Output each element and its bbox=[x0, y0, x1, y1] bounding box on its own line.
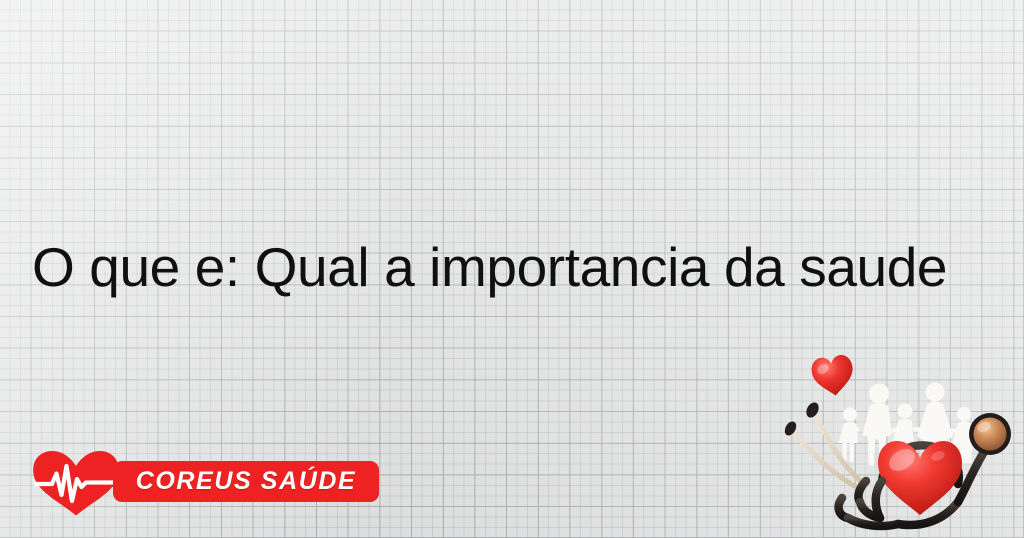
brand-badge-label: COREUS SAÚDE bbox=[113, 461, 379, 502]
small-heart-icon bbox=[810, 354, 856, 399]
heart-ecg-icon bbox=[30, 449, 122, 517]
large-heart-icon bbox=[878, 441, 962, 515]
page-title: O que e: Qual a importancia da saude bbox=[32, 237, 1007, 297]
stethoscope-chestpiece-icon bbox=[969, 413, 1011, 455]
brand-badge: COREUS SAÚDE bbox=[113, 461, 379, 502]
brand-logo[interactable]: COREUS SAÚDE bbox=[30, 449, 355, 517]
poster-canvas: O que e: Qual a importancia da saude COR… bbox=[0, 0, 1024, 538]
medical-illustration bbox=[778, 348, 1024, 538]
